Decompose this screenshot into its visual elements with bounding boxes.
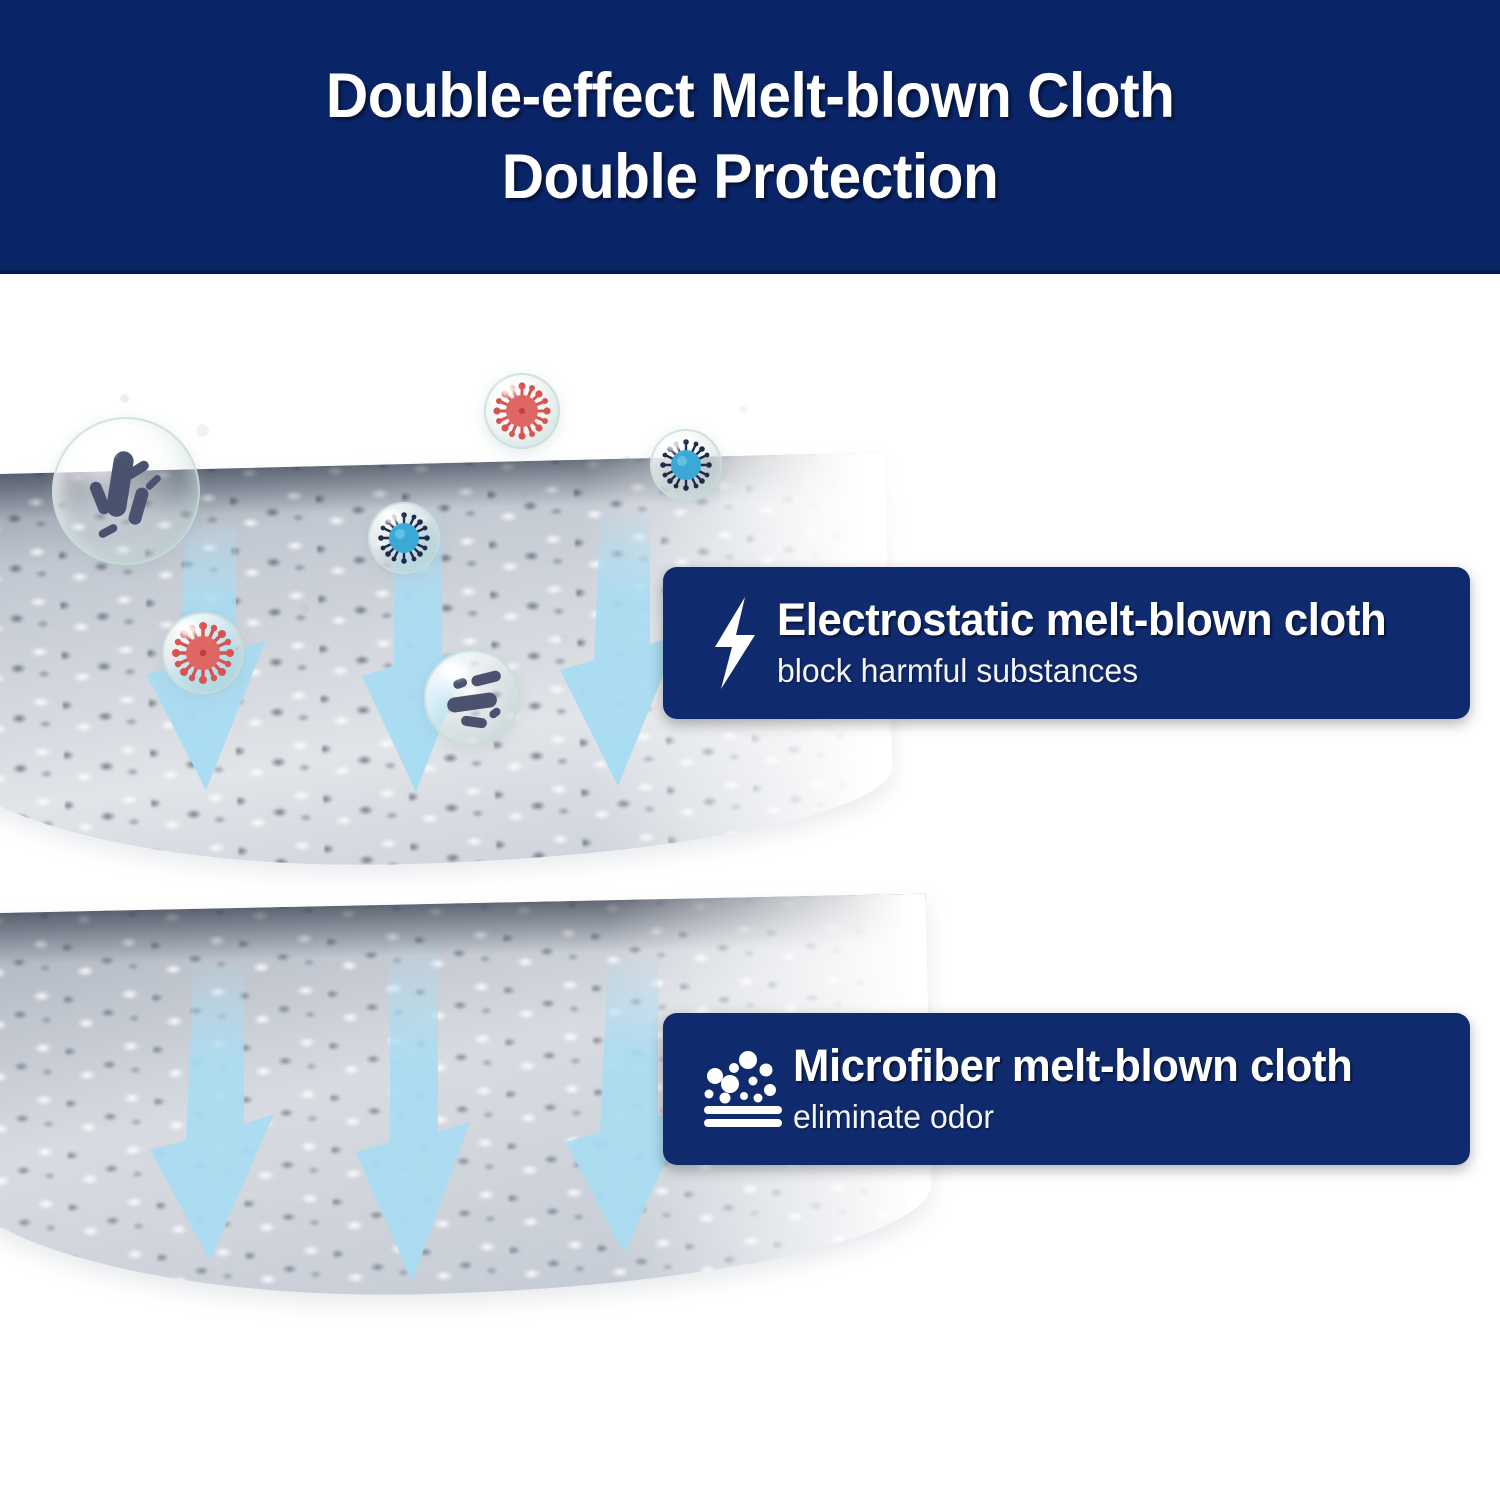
virus-bubble-red-top [484, 373, 560, 449]
dust-speck [622, 456, 632, 466]
bacteria-bubble-large [52, 417, 200, 565]
callout-microfiber-title: Microfiber melt-blown cloth [793, 1041, 1352, 1091]
rod-bacteria-icon [70, 435, 182, 547]
virus-bubble-blue-right [650, 429, 722, 501]
banner-title-line-2: Double Protection [502, 137, 999, 218]
header-banner: Double-effect Melt-blown Cloth Double Pr… [0, 0, 1500, 274]
corona-virus-icon [171, 621, 235, 685]
dust-speck [560, 634, 568, 642]
dust-speck [196, 424, 209, 437]
callout-electrostatic-subtitle: block harmful substances [777, 651, 1386, 691]
particle-filter-icon [693, 1048, 793, 1130]
lightning-bolt-icon [693, 595, 777, 691]
rod-bacteria-icon [435, 661, 509, 735]
dust-speck [120, 394, 129, 403]
banner-title-line-1: Double-effect Melt-blown Cloth [326, 56, 1175, 137]
bacteria-bubble-small [424, 650, 520, 746]
virus-bubble-blue-mid [368, 502, 440, 574]
dust-speck [300, 604, 309, 613]
callout-electrostatic[interactable]: Electrostatic melt-blown cloth block har… [663, 567, 1470, 719]
callout-microfiber[interactable]: Microfiber melt-blown cloth eliminate od… [663, 1013, 1470, 1165]
virus-bubble-red-mid [162, 612, 244, 694]
corona-virus-icon [658, 437, 714, 493]
callout-microfiber-subtitle: eliminate odor [793, 1097, 1352, 1137]
dust-speck [740, 406, 747, 413]
corona-virus-icon [376, 510, 432, 566]
callout-electrostatic-text: Electrostatic melt-blown cloth block har… [777, 595, 1405, 692]
corona-virus-icon [493, 382, 551, 440]
callout-electrostatic-title: Electrostatic melt-blown cloth [777, 595, 1386, 645]
callout-microfiber-text: Microfiber melt-blown cloth eliminate od… [793, 1041, 1370, 1138]
dust-speck [520, 489, 528, 497]
product-illustration-scene [0, 274, 1500, 1500]
infographic-stage: Double-effect Melt-blown Cloth Double Pr… [0, 0, 1500, 1500]
